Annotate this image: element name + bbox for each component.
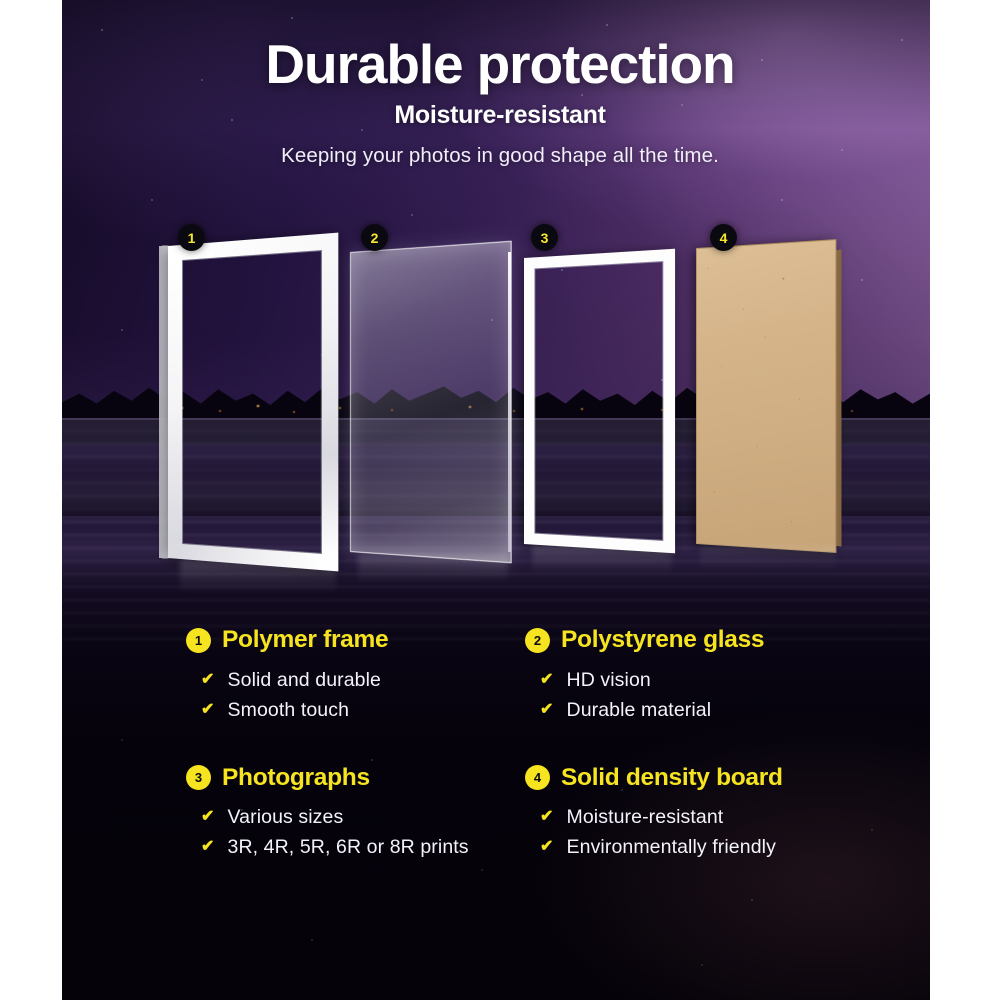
component-photograph-mat bbox=[524, 258, 674, 544]
list-item: ✔ Durable material bbox=[540, 696, 864, 726]
diagram-badge-2: 2 bbox=[361, 224, 388, 251]
list-item: ✔ Moisture-resistant bbox=[540, 803, 864, 833]
list-item-label: Solid and durable bbox=[228, 666, 381, 696]
header-block: Durable protection Moisture-resistant Ke… bbox=[0, 0, 1000, 168]
diagram-badge-3: 3 bbox=[531, 224, 558, 251]
diagram-badge-4: 4 bbox=[710, 224, 737, 251]
list-item-label: Moisture-resistant bbox=[567, 803, 724, 833]
photograph-mat-body bbox=[524, 249, 675, 554]
list-item: ✔ HD vision bbox=[540, 666, 864, 696]
feature-heading: 1 Polymer frame bbox=[186, 628, 525, 653]
check-icon: ✔ bbox=[201, 696, 215, 724]
check-icon: ✔ bbox=[540, 803, 554, 831]
diagram-badge-4-number: 4 bbox=[720, 231, 728, 245]
board-reflection bbox=[700, 546, 836, 572]
check-icon: ✔ bbox=[540, 833, 554, 861]
list-item-label: Durable material bbox=[567, 696, 712, 726]
page-subtitle: Moisture-resistant bbox=[0, 101, 1000, 130]
feature-badge-4: 4 bbox=[525, 765, 550, 790]
polystyrene-glass-body bbox=[350, 241, 512, 564]
polymer-frame-reflection bbox=[180, 560, 336, 594]
list-item-label: Various sizes bbox=[228, 803, 344, 833]
feature-badge-3-number: 3 bbox=[195, 771, 202, 784]
mat-reflection bbox=[532, 546, 672, 574]
check-icon: ✔ bbox=[201, 833, 215, 861]
polymer-frame-edge bbox=[159, 245, 168, 558]
list-item: ✔ Various sizes bbox=[201, 803, 525, 833]
infographic-stage: 1 2 3 bbox=[0, 0, 1000, 1000]
diagram-badge-1-number: 1 bbox=[188, 231, 196, 245]
list-item-label: Smooth touch bbox=[228, 696, 350, 726]
polystyrene-glass-edge bbox=[508, 252, 511, 552]
diagram-badge-1: 1 bbox=[178, 224, 205, 251]
feature-badge-3: 3 bbox=[186, 765, 211, 790]
feature-items-2: ✔ HD vision ✔ Durable material bbox=[540, 666, 864, 725]
feature-heading: 4 Solid density board bbox=[525, 765, 864, 790]
feature-block-polystyrene-glass: 2 Polystyrene glass ✔ HD vision ✔ Durabl… bbox=[525, 628, 864, 725]
check-icon: ✔ bbox=[540, 666, 554, 694]
feature-title-2: Polystyrene glass bbox=[561, 628, 764, 653]
feature-title-4: Solid density board bbox=[561, 766, 783, 791]
list-item: ✔ Smooth touch bbox=[201, 696, 525, 726]
list-item-label: Environmentally friendly bbox=[567, 833, 776, 863]
feature-title-1: Polymer frame bbox=[222, 628, 388, 653]
feature-heading: 2 Polystyrene glass bbox=[525, 628, 864, 653]
page-title: Durable protection bbox=[0, 36, 1000, 94]
list-item-label: HD vision bbox=[567, 666, 651, 696]
component-polymer-frame bbox=[168, 246, 336, 558]
check-icon: ✔ bbox=[201, 666, 215, 694]
list-item: ✔ Environmentally friendly bbox=[540, 833, 864, 863]
feature-block-polymer-frame: 1 Polymer frame ✔ Solid and durable ✔ Sm… bbox=[186, 628, 525, 725]
feature-badge-2: 2 bbox=[525, 628, 550, 653]
feature-items-4: ✔ Moisture-resistant ✔ Environmentally f… bbox=[540, 803, 864, 862]
check-icon: ✔ bbox=[540, 696, 554, 724]
list-item-label: 3R, 4R, 5R, 6R or 8R prints bbox=[228, 833, 469, 863]
list-item: ✔ Solid and durable bbox=[201, 666, 525, 696]
component-polystyrene-glass bbox=[350, 252, 510, 552]
feature-block-density-board: 4 Solid density board ✔ Moisture-resista… bbox=[525, 765, 864, 862]
component-density-board bbox=[696, 248, 836, 544]
page-description: Keeping your photos in good shape all th… bbox=[0, 144, 1000, 168]
feature-block-photographs: 3 Photographs ✔ Various sizes ✔ 3R, 4R, … bbox=[186, 765, 525, 862]
diagram-badge-3-number: 3 bbox=[541, 231, 549, 245]
polymer-frame-body bbox=[168, 233, 338, 572]
feature-badge-2-number: 2 bbox=[534, 634, 541, 647]
feature-items-1: ✔ Solid and durable ✔ Smooth touch bbox=[201, 666, 525, 725]
density-board-body bbox=[696, 239, 836, 553]
feature-badge-1: 1 bbox=[186, 628, 211, 653]
diagram-badge-2-number: 2 bbox=[371, 231, 379, 245]
glass-reflection bbox=[358, 554, 508, 584]
feature-badge-4-number: 4 bbox=[534, 771, 541, 784]
feature-badge-1-number: 1 bbox=[195, 634, 202, 647]
feature-list: 1 Polymer frame ✔ Solid and durable ✔ Sm… bbox=[0, 628, 1000, 863]
feature-items-3: ✔ Various sizes ✔ 3R, 4R, 5R, 6R or 8R p… bbox=[201, 803, 525, 862]
list-item: ✔ 3R, 4R, 5R, 6R or 8R prints bbox=[201, 833, 525, 863]
check-icon: ✔ bbox=[201, 803, 215, 831]
feature-title-3: Photographs bbox=[222, 766, 370, 791]
feature-heading: 3 Photographs bbox=[186, 765, 525, 790]
